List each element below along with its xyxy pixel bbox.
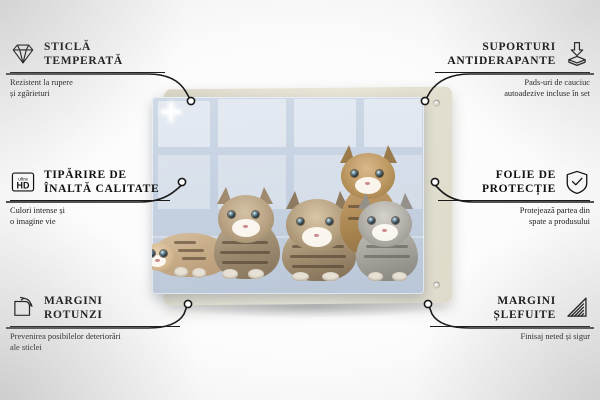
kitten-paw [322, 272, 339, 281]
feature-title-line2: ÎNALTĂ CALITATE [44, 182, 159, 196]
kitten-paw [392, 272, 407, 281]
kitten-stripe [182, 257, 206, 260]
window-pane [158, 101, 210, 147]
feature-description: Rezistent la rupere și zgârieturi [10, 77, 210, 99]
kitten-eye [368, 217, 375, 224]
feature-title-line1: STICLĂ [44, 40, 123, 54]
mount-hole-top-right [433, 100, 440, 107]
feature-underline [10, 326, 180, 327]
feature-desc-line2: ale sticlei [10, 342, 210, 353]
feature-description: Prevenirea posibilelor deteriorări ale s… [10, 331, 210, 353]
feature-desc-line2: autoadezive incluse în set [390, 88, 590, 99]
shield-check-icon [564, 169, 590, 195]
kitten-paw [222, 269, 238, 279]
feature-polished-edges: MARGINI ȘLEFUITE Finisaj neted și sigur [390, 294, 590, 342]
mount-hole-bottom-right [433, 282, 440, 289]
feature-desc-line2: spate a produsului [390, 216, 590, 227]
feature-protective-film: FOLIE DE PROTECȚIE Protejează partea din… [390, 168, 590, 227]
feature-underline [438, 200, 590, 201]
feature-underline [435, 72, 590, 73]
diamond-icon [10, 41, 36, 67]
kitten-2 [210, 183, 282, 279]
window-pane [294, 99, 356, 147]
feature-description: Finisaj neted și sigur [390, 331, 590, 342]
kitten-nose [314, 234, 319, 237]
kitten-paw [368, 272, 383, 281]
window-pane [364, 99, 422, 147]
kitten-stripe [290, 255, 346, 258]
feature-anti-slip-supports: SUPORTURI ANTIDERAPANTE Pads-uri de cauc… [390, 40, 590, 99]
kitten-stripe [222, 261, 268, 264]
feature-title-line1: TIPĂRIRE DE [44, 168, 159, 182]
feature-title-line1: SUPORTURI [447, 40, 556, 54]
kitten-nose [243, 225, 248, 228]
kitten-stripe [364, 255, 410, 258]
kitten-eye [228, 211, 235, 218]
press-pad-icon [564, 41, 590, 67]
kitten-stripe [174, 241, 196, 244]
feature-rounded-edges: MARGINI ROTUNZI Prevenirea posibilelor d… [10, 294, 210, 353]
kitten-muzzle [302, 227, 332, 247]
rounded-corner-icon [10, 295, 36, 321]
feature-underline [10, 72, 165, 73]
feature-tempered-glass: STICLĂ TEMPERATĂ Rezistent la rupere și … [10, 40, 210, 99]
kitten-stripe [292, 265, 344, 268]
feature-desc-line1: Rezistent la rupere [10, 77, 210, 88]
kitten-paw [292, 272, 309, 281]
feature-title-line2: PROTECȚIE [482, 182, 556, 196]
kitten-eye [376, 170, 383, 177]
ultra-hd-icon: ultra HD [10, 169, 36, 195]
infographic-canvas: STICLĂ TEMPERATĂ Rezistent la rupere și … [0, 0, 600, 400]
feature-title-line1: MARGINI [44, 294, 103, 308]
feature-title-line1: FOLIE DE [482, 168, 556, 182]
kitten-stripe [178, 249, 204, 252]
feature-description: Protejează partea din spate a produsului [390, 205, 590, 227]
feature-description: Culori intense și o imagine vie [10, 205, 210, 227]
feature-desc-line2: o imagine vie [10, 216, 210, 227]
feature-title-line1: MARGINI [494, 294, 556, 308]
feature-desc-line1: Finisaj neted și sigur [390, 331, 590, 342]
feature-title-line2: TEMPERATĂ [44, 54, 123, 68]
feature-title-line2: ROTUNZI [44, 308, 103, 322]
feature-high-quality-print: ultra HD TIPĂRIRE DE ÎNALTĂ CALITATE Cul… [10, 168, 210, 227]
ultra-hd-icon-bottom-text: HD [17, 181, 30, 191]
kitten-eye [297, 218, 304, 225]
feature-desc-line2: și zgârieturi [10, 88, 210, 99]
kitten-eye [252, 211, 259, 218]
feature-desc-line1: Protejează partea din [390, 205, 590, 216]
kitten-eye [160, 250, 167, 257]
feature-title-line2: ANTIDERAPANTE [447, 54, 556, 68]
feature-desc-line1: Culori intense și [10, 205, 210, 216]
kitten-stripe [220, 251, 270, 254]
kitten-paw [248, 269, 264, 279]
feature-underline [10, 200, 170, 201]
kitten-nose [155, 259, 160, 262]
kitten-paw [192, 268, 206, 278]
window-pane [218, 99, 286, 147]
feature-underline [430, 326, 590, 327]
feature-description: Pads-uri de cauciuc autoadezive incluse … [390, 77, 590, 99]
feature-desc-line1: Pads-uri de cauciuc [390, 77, 590, 88]
kitten-nose [382, 229, 387, 232]
hatched-edge-icon [564, 295, 590, 321]
kitten-paw [174, 267, 188, 277]
kitten-nose [365, 182, 370, 185]
feature-desc-line1: Prevenirea posibilelor deteriorări [10, 331, 210, 342]
feature-title-line2: ȘLEFUITE [494, 308, 556, 322]
kitten-eye [351, 170, 358, 177]
kitten-muzzle [232, 219, 260, 237]
kitten-eye [326, 218, 333, 225]
